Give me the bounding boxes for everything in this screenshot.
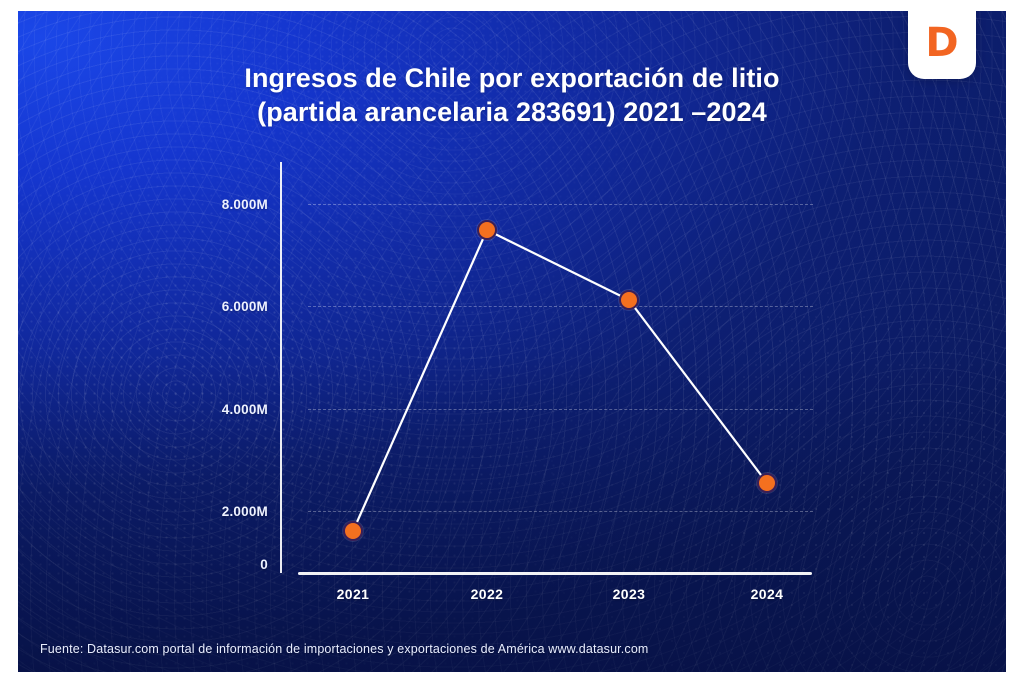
data-point-2022[interactable] <box>477 220 497 240</box>
infographic-canvas: D Ingresos de Chile por exportación de l… <box>0 0 1024 683</box>
chart-card: D Ingresos de Chile por exportación de l… <box>18 11 1006 672</box>
series-line <box>18 11 1006 672</box>
data-point-2023[interactable] <box>619 290 639 310</box>
line-chart: 8.000M 6.000M 4.000M 2.000M 0 2021 2022 … <box>18 11 1006 672</box>
x-tick-label-2024: 2024 <box>722 586 812 602</box>
series-polyline <box>353 230 767 531</box>
data-point-2024[interactable] <box>757 473 777 493</box>
source-footnote: Fuente: Datasur.com portal de informació… <box>40 642 649 656</box>
x-tick-label-2021: 2021 <box>308 586 398 602</box>
x-tick-label-2023: 2023 <box>584 586 674 602</box>
x-tick-label-2022: 2022 <box>442 586 532 602</box>
data-point-2021[interactable] <box>343 521 363 541</box>
